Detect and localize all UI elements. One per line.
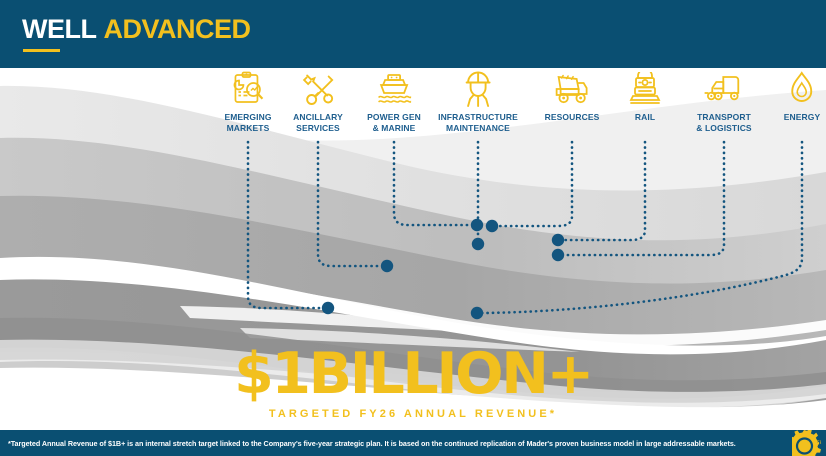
- dump-truck-icon: [545, 70, 600, 108]
- headline-block: $1BILLION+ TARGETED FY26 ANNUAL REVENUE*: [0, 346, 826, 420]
- category-energy[interactable]: ENERGY: [784, 70, 821, 123]
- semi-truck-icon: [696, 70, 751, 108]
- category-label: TRANSPORT & LOGISTICS: [696, 112, 751, 134]
- footnote-disclaimer: *Targeted Annual Revenue of $1B+ is an i…: [8, 430, 788, 456]
- clipboard-chart-icon: [224, 70, 271, 108]
- slide-canvas: WELL ADVANCED EMERGING: [0, 0, 826, 456]
- page-title-word-2: ADVANCED: [104, 14, 251, 44]
- category-label: INFRASTRUCTURE MAINTENANCE: [438, 112, 518, 134]
- hardhat-worker-icon: [438, 70, 518, 108]
- category-label: RESOURCES: [545, 112, 600, 123]
- train-icon: [629, 70, 661, 108]
- page-title: WELL ADVANCED: [22, 16, 251, 43]
- gear-logo-icon: 1: [792, 430, 826, 456]
- wrench-screwdriver-icon: [293, 70, 343, 108]
- revenue-target-caption: TARGETED FY26 ANNUAL REVENUE*: [0, 408, 826, 420]
- category-label: ANCILLARY SERVICES: [293, 112, 343, 134]
- title-underline-rule: [23, 49, 60, 52]
- category-label: RAIL: [629, 112, 661, 123]
- category-resources[interactable]: RESOURCES: [545, 70, 600, 123]
- category-emerging-markets[interactable]: EMERGING MARKETS: [224, 70, 271, 134]
- ship-icon: [367, 70, 421, 108]
- category-label: POWER GEN & MARINE: [367, 112, 421, 134]
- page-title-word-1: WELL: [22, 14, 96, 44]
- category-rail[interactable]: RAIL: [629, 70, 661, 123]
- category-ancillary-services[interactable]: ANCILLARY SERVICES: [293, 70, 343, 134]
- category-infrastructure-maintenance[interactable]: INFRASTRUCTURE MAINTENANCE: [438, 70, 518, 134]
- category-label: ENERGY: [784, 112, 821, 123]
- category-label: EMERGING MARKETS: [224, 112, 271, 134]
- category-power-gen-marine[interactable]: POWER GEN & MARINE: [367, 70, 421, 134]
- category-transport-logistics[interactable]: TRANSPORT & LOGISTICS: [696, 70, 751, 134]
- flame-icon: [784, 70, 821, 108]
- category-row: EMERGING MARKETS ANCILLARY SERVICES: [0, 70, 826, 142]
- revenue-target-amount: $1BILLION+: [0, 346, 826, 403]
- page-number: 1: [817, 439, 822, 449]
